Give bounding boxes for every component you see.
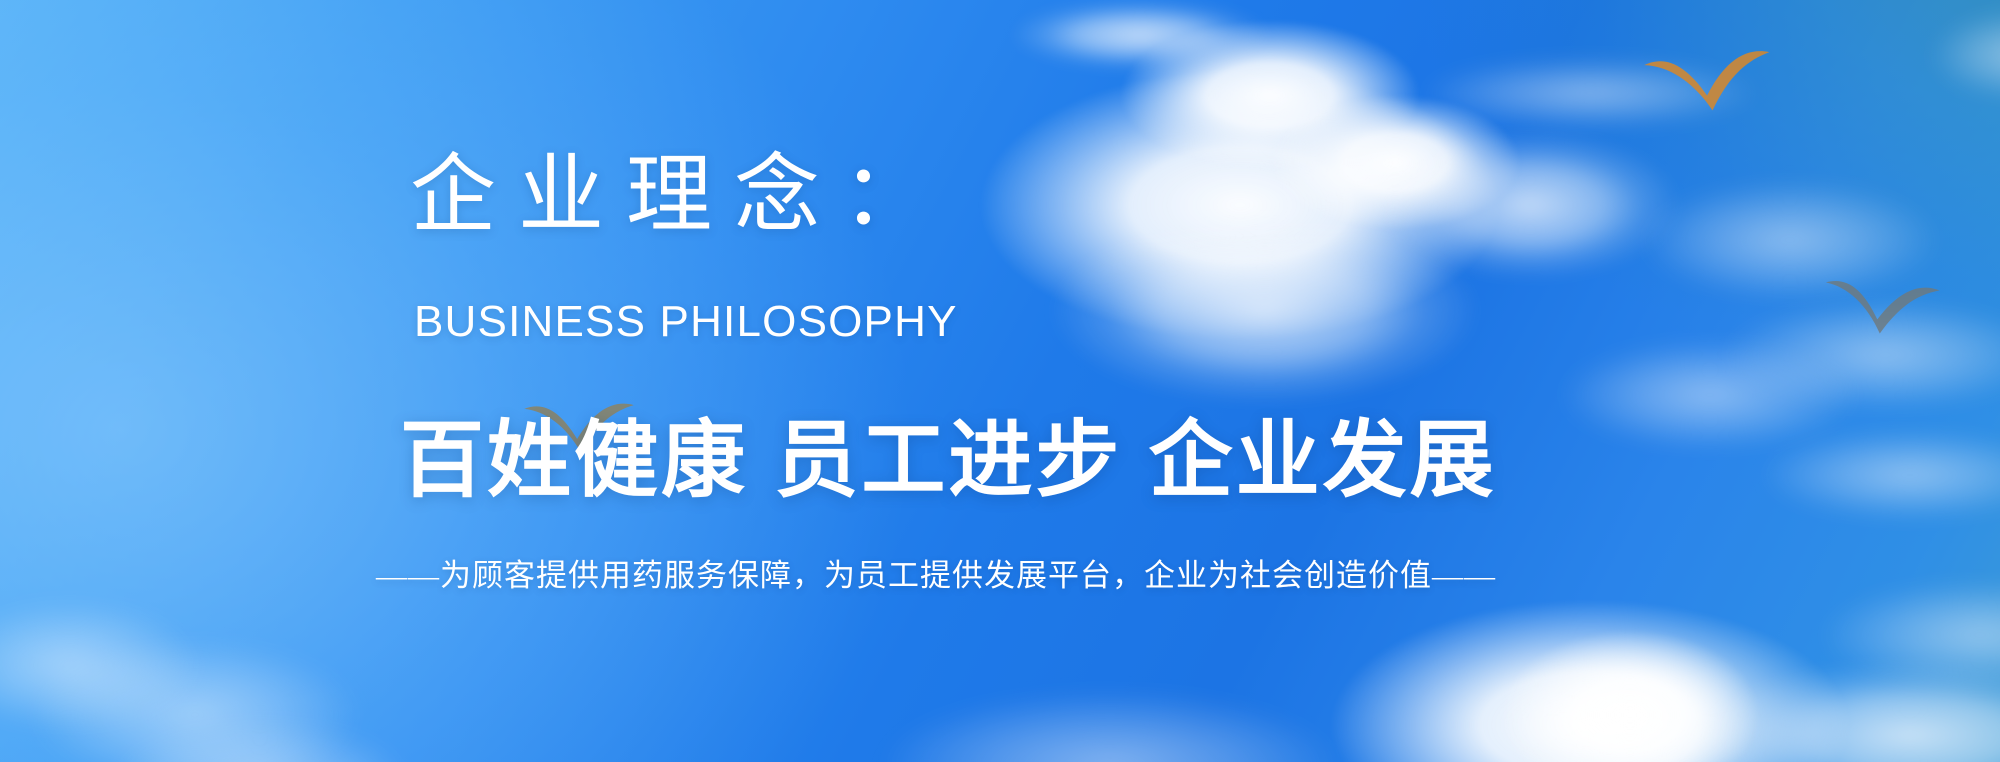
- cloud-mid-right-streak: [1760, 430, 2000, 520]
- cloud-right-low: [1560, 340, 1860, 450]
- cloud-center-right: [1380, 130, 1680, 280]
- business-philosophy-banner: 企业理念： BUSINESS PHILOSOPHY 百姓健康 员工进步 企业发展…: [0, 0, 2000, 762]
- bird-orange-top-right-icon: [1640, 34, 1775, 121]
- cloud-top-sliver: [1010, 0, 1270, 70]
- cloud-bottom-center: [880, 690, 1340, 762]
- bird-gray-brown-center-icon: [520, 390, 638, 456]
- cloud-far-right-top: [1930, 10, 2000, 100]
- bird-gray-right-icon: [1819, 262, 1944, 344]
